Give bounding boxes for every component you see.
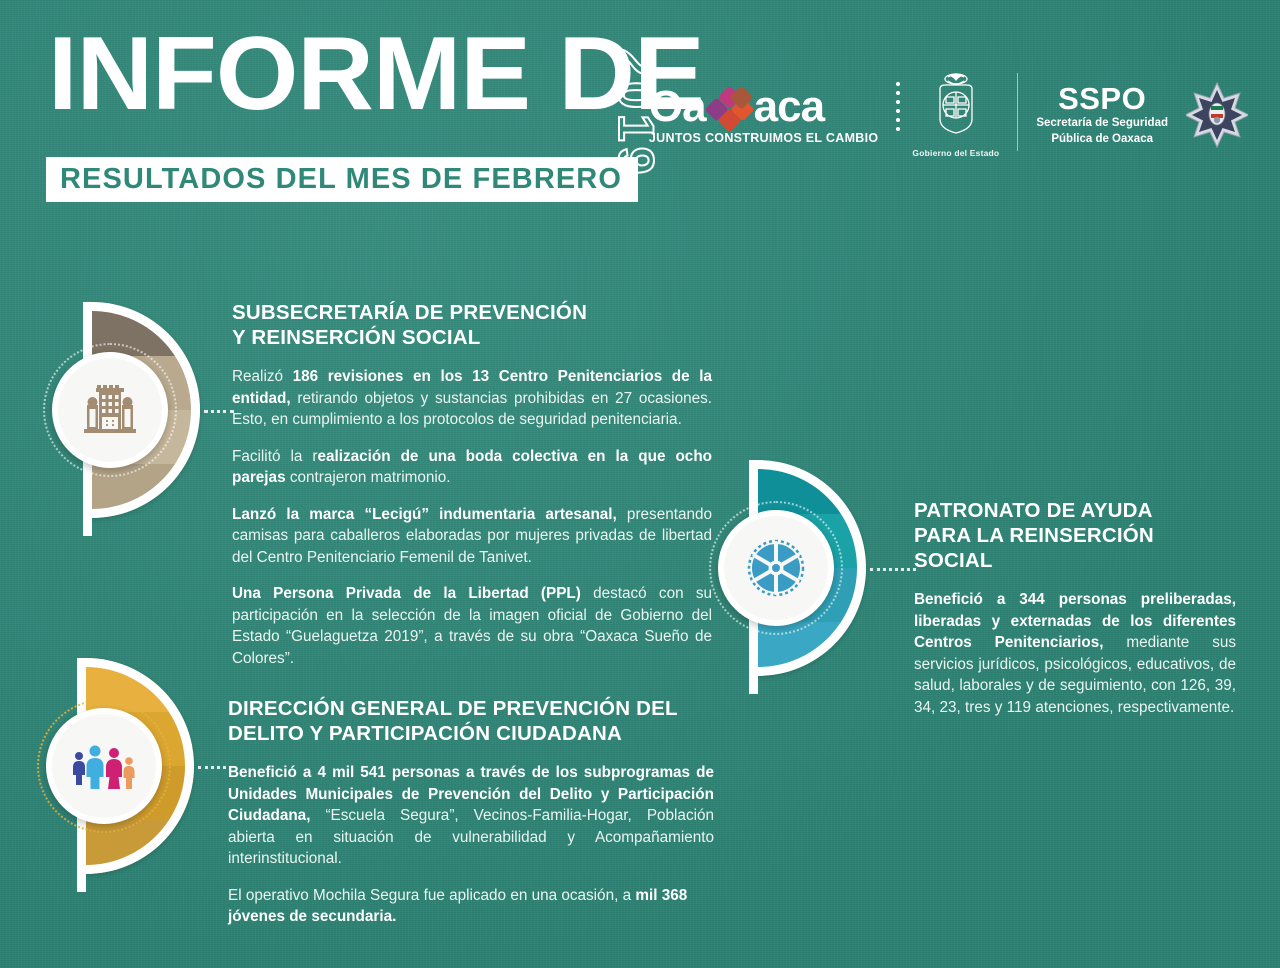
section-body-subsecretaria: SUBSECRETARÍA DE PREVENCIÓN Y REINSERCIÓ… (232, 300, 712, 684)
medallion-patronato (718, 460, 868, 676)
connector-line (870, 568, 916, 571)
oaxaca-tagline: JUNTOS CONSTRUIMOS EL CAMBIO (649, 131, 878, 145)
sspo-subtitle-line2: Pública de Oaxaca (1036, 132, 1168, 146)
paragraph: Realizó 186 revisiones en los 13 Centro … (232, 366, 712, 431)
heading-line-2: PARA LA REINSERCIÓN SOCIAL (914, 523, 1236, 573)
sspo-logo: SSPO Secretaría de Seguridad Pública de … (1036, 83, 1168, 146)
subtitle-label: RESULTADOS DEL MES DE FEBRERO (60, 163, 622, 196)
government-building-icon (79, 383, 141, 437)
paragraph: El operativo Mochila Segura fue aplicado… (228, 885, 714, 928)
heading-line-2: Y REINSERCIÓN SOCIAL (232, 325, 712, 350)
text-emphasis: Lanzó la marca “Lecigú” indumentaria art… (232, 506, 617, 523)
section-body-patronato: PATRONATO DE AYUDA PARA LA REINSERCIÓN S… (914, 498, 1236, 733)
text-run: retirando objetos y sustancias prohibida… (232, 390, 712, 429)
sspo-title: SSPO (1036, 83, 1168, 114)
paragraph: Una Persona Privada de la Libertad (PPL)… (232, 583, 712, 669)
heading-line-2: DELITO Y PARTICIPACIÓN CIUDADANA (228, 721, 714, 746)
heading-line-1: SUBSECRETARÍA DE PREVENCIÓN (232, 300, 712, 325)
paragraph-list: Realizó 186 revisiones en los 13 Centro … (232, 366, 712, 669)
paragraph-list: Benefició a 344 personas preliberadas, l… (914, 589, 1236, 718)
oaxaca-diamond-x-icon (707, 85, 753, 129)
text-emphasis: Una Persona Privada de la Libertad (PPL) (232, 585, 581, 602)
subtitle-banner: RESULTADOS DEL MES DE FEBRERO (46, 157, 638, 202)
infographic-page: INFORME DE 2019 RESULTADOS DEL MES DE FE… (0, 0, 1280, 968)
paragraph: Benefició a 344 personas preliberadas, l… (914, 589, 1236, 718)
icon-badge-family[interactable] (46, 708, 162, 824)
heading-line-1: PATRONATO DE AYUDA (914, 498, 1236, 523)
section-body-direccion-general: DIRECCIÓN GENERAL DE PREVENCIÓN DEL DELI… (228, 696, 714, 943)
gobierno-estado-logo: Gobierno del Estado (912, 71, 999, 158)
family-people-icon (70, 743, 138, 789)
sspo-subtitle-line1: Secretaría de Seguridad (1036, 116, 1168, 130)
gobierno-seal-icon (924, 71, 988, 145)
oaxaca-logo: Oa aca JUNTOS CONSTRUIMOS EL CAMBIO (649, 85, 878, 145)
police-star-badge-icon (1186, 82, 1248, 148)
icon-badge-building[interactable] (52, 352, 168, 468)
connector-line (198, 766, 226, 769)
dot-separator-icon (896, 82, 900, 131)
medallion-direccion-general (46, 658, 196, 874)
text-run: Facilitó la r (232, 448, 317, 465)
text-run: contrajeron matrimonio. (286, 469, 451, 486)
page-header: INFORME DE 2019 RESULTADOS DEL MES DE FE… (0, 0, 1280, 230)
heading-line-1: DIRECCIÓN GENERAL DE PREVENCIÓN DEL (228, 696, 714, 721)
connector-line (204, 410, 234, 413)
text-run: El operativo Mochila Segura fue aplicado… (228, 887, 635, 904)
oaxaca-wordmark: Oa aca (649, 85, 824, 129)
medallion-subsecretaria (52, 302, 202, 518)
text-run: Realizó (232, 368, 293, 385)
icon-badge-aperture[interactable] (718, 510, 834, 626)
section-heading-patronato: PATRONATO DE AYUDA PARA LA REINSERCIÓN S… (914, 498, 1236, 573)
section-heading-direccion-general: DIRECCIÓN GENERAL DE PREVENCIÓN DEL DELI… (228, 696, 714, 746)
paragraph: Lanzó la marca “Lecigú” indumentaria art… (232, 504, 712, 569)
oaxaca-word-suffix: aca (754, 85, 824, 129)
gobierno-caption: Gobierno del Estado (912, 148, 999, 158)
logo-cluster: Oa aca JUNTOS CONSTRUIMOS EL CAMBIO (649, 62, 1248, 167)
paragraph-list: Benefició a 4 mil 541 personas a través … (228, 762, 714, 928)
paragraph: Benefició a 4 mil 541 personas a través … (228, 762, 714, 870)
vertical-divider (1017, 73, 1018, 151)
paragraph: Facilitó la realización de una boda cole… (232, 446, 712, 489)
oaxaca-word-prefix: Oa (649, 85, 706, 129)
section-heading-subsecretaria: SUBSECRETARÍA DE PREVENCIÓN Y REINSERCIÓ… (232, 300, 712, 350)
aperture-wheel-icon (744, 536, 808, 600)
